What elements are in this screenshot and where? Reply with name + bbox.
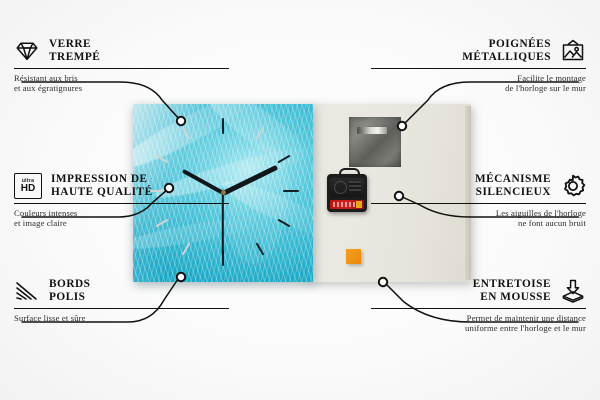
divider <box>14 203 229 205</box>
feature-title: ENTRETOISE EN MOUSSE <box>473 278 551 305</box>
hanger-slot <box>357 127 387 134</box>
hour-marker <box>283 190 299 192</box>
ultra-hd-hd-text: HD <box>21 184 35 194</box>
clock-mechanism <box>327 174 367 212</box>
battery <box>330 200 364 209</box>
feature-subtitle: Résistant aux bris et aux égratignures <box>14 73 229 94</box>
feature-subtitle: Permet de maintenir une distance uniform… <box>371 313 586 334</box>
ultra-hd-icon: ultra HD <box>14 173 42 199</box>
feature-subtitle: Facilite le montage de l'horloge sur le … <box>371 73 586 94</box>
divider <box>14 68 229 70</box>
feature-verre-trempe: VERRE TREMPÉ Résistant aux bris et aux é… <box>14 38 229 94</box>
feature-mecanisme-silencieux: MÉCANISME SILENCIEUX Les aiguilles de l'… <box>371 173 586 229</box>
divider <box>371 68 586 70</box>
feature-impression-haute-qualite: ultra HD IMPRESSION DE HAUTE QUALITÉ Cou… <box>14 173 229 229</box>
feature-title: VERRE TREMPÉ <box>49 38 100 65</box>
infographic-canvas: VERRE TREMPÉ Résistant aux bris et aux é… <box>0 0 600 400</box>
feature-title: IMPRESSION DE HAUTE QUALITÉ <box>51 173 153 200</box>
mechanism-face <box>330 178 364 197</box>
diamond-icon <box>14 38 40 64</box>
metal-hanger-plate <box>349 117 401 167</box>
divider <box>14 308 229 310</box>
foam-spacer-arrow-icon <box>560 278 586 304</box>
battery-plus-terminal <box>356 201 362 208</box>
battery-label <box>333 202 355 207</box>
feature-entretoise-en-mousse: ENTRETOISE EN MOUSSE Permet de maintenir… <box>371 278 586 334</box>
divider <box>371 308 586 310</box>
feature-subtitle: Les aiguilles de l'horloge ne font aucun… <box>371 208 586 229</box>
picture-frame-hanger-icon <box>560 38 586 64</box>
feature-title: MÉCANISME SILENCIEUX <box>475 173 551 200</box>
feature-title: POIGNÉES MÉTALLIQUES <box>462 38 551 65</box>
feature-bords-polis: BORDS POLIS Surface lisse et sûre <box>14 278 229 323</box>
feature-poignees-metalliques: POIGNÉES MÉTALLIQUES Facilite le montage… <box>371 38 586 94</box>
polished-edges-icon <box>14 278 40 304</box>
divider <box>371 203 586 205</box>
mechanism-dial <box>334 181 347 194</box>
feature-subtitle: Couleurs intenses et image claire <box>14 208 229 229</box>
feature-subtitle: Surface lisse et sûre <box>14 313 229 324</box>
gear-icon <box>560 173 586 199</box>
feature-title: BORDS POLIS <box>49 278 90 305</box>
mechanism-ribs <box>349 181 361 193</box>
foam-spacer <box>346 249 361 264</box>
hour-marker <box>222 118 224 134</box>
